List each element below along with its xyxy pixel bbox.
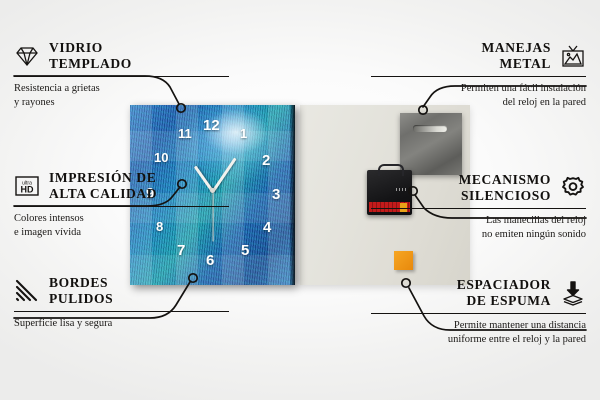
callout-bordes-pulidos[interactable]: BORDES PULIDOS Superficie lisa y segura xyxy=(14,275,229,331)
diagonal-stripes-icon xyxy=(14,278,40,304)
callout-divider xyxy=(371,313,586,315)
diamond-icon xyxy=(14,43,40,69)
metal-hanger-plate xyxy=(400,113,462,175)
callout-header: ultra HD IMPRESIÓN DE ALTA CALIDAD xyxy=(14,170,229,202)
svg-text:HD: HD xyxy=(21,185,34,195)
callout-header: VIDRIO TEMPLADO xyxy=(14,40,229,72)
callout-divider xyxy=(371,76,586,78)
callout-description: Permiten una fácil instalación del reloj… xyxy=(371,82,586,109)
callout-mecanismo-silencioso[interactable]: MECANISMO SILENCIOSO Las manecillas del … xyxy=(371,172,586,242)
callout-header: MANEJAS METAL xyxy=(371,40,586,72)
callout-divider xyxy=(371,208,586,210)
clock-numeral-12: 12 xyxy=(203,118,220,133)
callout-divider xyxy=(14,76,229,78)
callout-title: IMPRESIÓN DE ALTA CALIDAD xyxy=(49,170,157,202)
gear-icon xyxy=(560,175,586,201)
clock-numeral-2: 2 xyxy=(262,153,270,168)
clock-numeral-11: 11 xyxy=(178,127,192,140)
clock-numeral-4: 4 xyxy=(263,220,271,235)
callout-manejas-metal[interactable]: MANEJAS METAL Permiten una fácil instala… xyxy=(371,40,586,110)
infographic-canvas: 12 1 2 3 4 5 6 7 8 9 10 11 xyxy=(0,0,600,400)
callout-header: MECANISMO SILENCIOSO xyxy=(371,172,586,204)
callout-header: BORDES PULIDOS xyxy=(14,275,229,307)
callout-description: Superficie lisa y segura xyxy=(14,317,229,331)
clock-numeral-10: 10 xyxy=(154,151,168,164)
callout-title: BORDES PULIDOS xyxy=(49,275,113,307)
callout-description: Colores intensos e imagen vívida xyxy=(14,212,229,239)
callout-title: MECANISMO SILENCIOSO xyxy=(459,172,551,204)
clock-numeral-5: 5 xyxy=(241,243,249,258)
callout-impresion-alta-calidad[interactable]: ultra HD IMPRESIÓN DE ALTA CALIDAD Color… xyxy=(14,170,229,240)
ultra-hd-icon: ultra HD xyxy=(14,173,40,199)
clock-side-edge xyxy=(290,105,295,285)
callout-header: ESPACIADOR DE ESPUMA xyxy=(371,277,586,309)
callout-description: Resistencia a grietas y rayones xyxy=(14,82,229,109)
clock-numeral-1: 1 xyxy=(240,127,247,140)
arrow-onto-layers-icon xyxy=(560,280,586,306)
clock-numeral-6: 6 xyxy=(206,253,214,268)
callout-divider xyxy=(14,206,229,208)
callout-title: MANEJAS METAL xyxy=(482,40,551,72)
callout-title: VIDRIO TEMPLADO xyxy=(49,40,132,72)
foam-spacer-pad xyxy=(394,251,413,270)
clock-numeral-7: 7 xyxy=(177,243,185,258)
callout-description: Permite mantener una distancia uniforme … xyxy=(371,319,586,346)
hanger-slot xyxy=(413,125,447,132)
callout-divider xyxy=(14,311,229,313)
callout-title: ESPACIADOR DE ESPUMA xyxy=(457,277,551,309)
callout-description: Las manecillas del reloj no emiten ningú… xyxy=(371,214,586,241)
callout-vidrio-templado[interactable]: VIDRIO TEMPLADO Resistencia a grietas y … xyxy=(14,40,229,110)
clock-numeral-3: 3 xyxy=(272,187,280,202)
picture-frame-hanger-icon xyxy=(560,43,586,69)
callout-espaciador-espuma[interactable]: ESPACIADOR DE ESPUMA Permite mantener un… xyxy=(371,277,586,347)
